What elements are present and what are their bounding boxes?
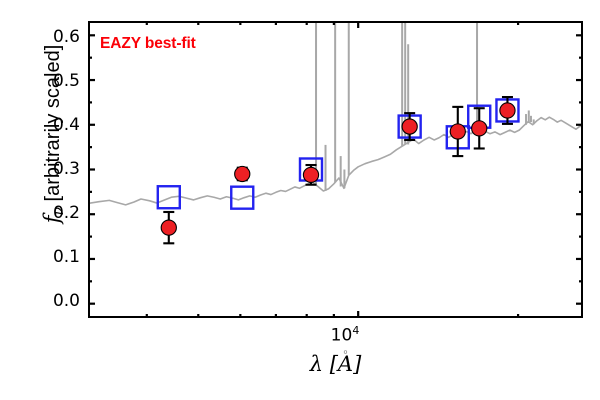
x-axis-label-symbol: λ bbox=[310, 352, 323, 376]
x-tick-label-major: 104 bbox=[315, 324, 375, 346]
y-axis-label-symbol: f bbox=[40, 216, 64, 224]
x-axis-label-unit: A◦ bbox=[338, 352, 353, 376]
x-axis-label-bracket-close: ] bbox=[353, 352, 361, 376]
angstrom-ring-icon: ◦ bbox=[342, 346, 348, 359]
y-tick-label: 0.0 bbox=[34, 291, 80, 311]
y-axis-label-text: [arbitrarily scaled] bbox=[42, 45, 64, 207]
y-axis-label-subscript: ν bbox=[51, 207, 67, 216]
axes-frame bbox=[88, 21, 583, 318]
x-axis-label: λ [A◦] bbox=[88, 352, 583, 376]
y-axis-label: fν [arbitrarily scaled] bbox=[40, 0, 68, 284]
figure-canvas: 0.6 0.5 0.4 0.3 0.2 0.1 0.0 104 fν [arbi… bbox=[0, 0, 600, 400]
x-tick-exponent: 4 bbox=[352, 324, 359, 337]
x-tick-mantissa: 10 bbox=[331, 326, 353, 346]
y-axis-label-math: fν bbox=[40, 207, 64, 223]
x-axis-label-bracket-open: [ bbox=[323, 352, 338, 376]
